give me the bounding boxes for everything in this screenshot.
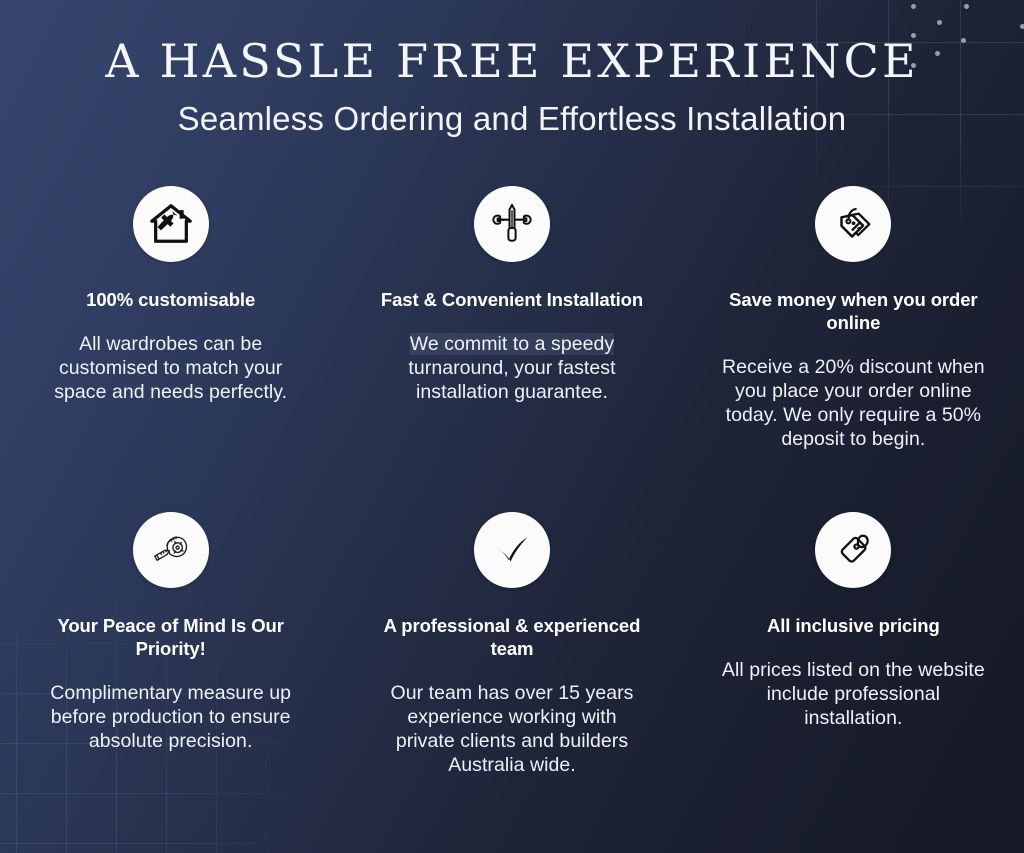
- feature-title: A professional & experienced team: [375, 614, 648, 660]
- feature-description: Receive a 20% discount when you place yo…: [717, 356, 990, 451]
- screwdriver-wrench-icon: [474, 186, 550, 262]
- feature-title: Your Peace of Mind Is Our Priority!: [34, 614, 307, 660]
- feature-description: All prices listed on the website include…: [717, 659, 990, 730]
- decorative-dot: [937, 20, 942, 25]
- checkmark-icon: [474, 512, 550, 588]
- feature-card-customisable: 100% customisable All wardrobes can be c…: [0, 186, 341, 506]
- feature-grid: 100% customisable All wardrobes can be c…: [0, 186, 1024, 777]
- feature-description: We commit to a speedy turnaround, your f…: [375, 333, 648, 404]
- price-tag-icon: [815, 512, 891, 588]
- feature-card-all-inclusive-pricing: All inclusive pricing All prices listed …: [683, 512, 1024, 777]
- feature-card-peace-of-mind: Your Peace of Mind Is Our Priority! Comp…: [0, 512, 341, 777]
- feature-card-save-money: Save money when you order online Receive…: [683, 186, 1024, 506]
- decorative-dot: [1020, 24, 1024, 29]
- feature-title: 100% customisable: [86, 288, 255, 311]
- feature-description: All wardrobes can be customised to match…: [34, 333, 307, 404]
- feature-description: Complimentary measure up before producti…: [34, 682, 307, 753]
- decorative-dot: [911, 4, 916, 9]
- feature-title: Fast & Convenient Installation: [381, 288, 643, 311]
- page-subtitle: Seamless Ordering and Effortless Install…: [0, 99, 1024, 139]
- feature-description: Our team has over 15 years experience wo…: [375, 682, 648, 777]
- feature-title: All inclusive pricing: [767, 614, 940, 637]
- feature-title: Save money when you order online: [717, 288, 990, 334]
- house-hammer-icon: [133, 186, 209, 262]
- header: A HASSLE FREE EXPERIENCE Seamless Orderi…: [0, 36, 1024, 138]
- feature-card-installation: Fast & Convenient Installation We commit…: [341, 186, 682, 506]
- promo-banner: A HASSLE FREE EXPERIENCE Seamless Orderi…: [0, 0, 1024, 853]
- page-title: A HASSLE FREE EXPERIENCE: [0, 36, 1024, 87]
- discount-tags-icon: [815, 186, 891, 262]
- decorative-dot: [964, 4, 969, 9]
- feature-card-professional-team: A professional & experienced team Our te…: [341, 512, 682, 777]
- tape-measure-icon: [133, 512, 209, 588]
- feature-description-rest: turnaround, your fastest installation gu…: [408, 357, 615, 403]
- feature-description-highlight: We commit to a speedy: [410, 333, 614, 355]
